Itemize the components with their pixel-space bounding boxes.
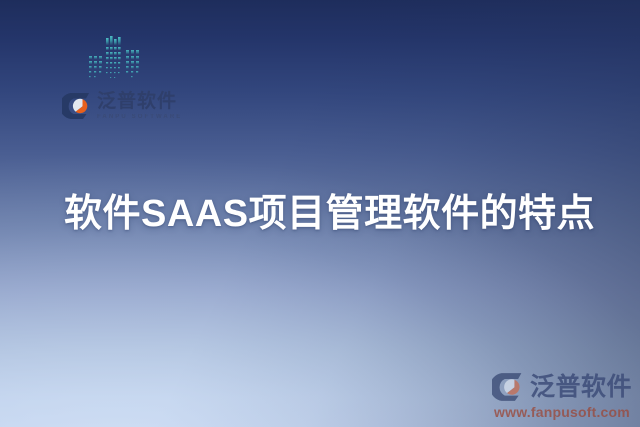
watermark-logo-row: 泛普软件 (492, 372, 632, 402)
watermark-name-cn: 泛普软件 (530, 375, 632, 400)
brand-name-cn: 泛普软件 (97, 92, 182, 112)
brand-logo: 泛普软件 FANPU SOFTWARE (62, 92, 182, 120)
watermark: 泛普软件 www.fanpusoft.com (492, 372, 632, 419)
fanpu-hexagon-swirl-icon (492, 372, 525, 402)
banner-headline: 软件SAAS项目管理软件的特点 (64, 191, 584, 237)
brand-wordmark: 泛普软件 FANPU SOFTWARE (97, 92, 182, 120)
pixel-cityscape-icon (84, 32, 148, 88)
brand-name-en: FANPU SOFTWARE (97, 114, 182, 120)
promo-banner: 泛普软件 FANPU SOFTWARE 软件SAAS项目管理软件的特点 泛普软件… (0, 0, 640, 427)
fanpu-hexagon-swirl-icon (62, 92, 92, 120)
watermark-url: www.fanpusoft.com (494, 405, 630, 419)
